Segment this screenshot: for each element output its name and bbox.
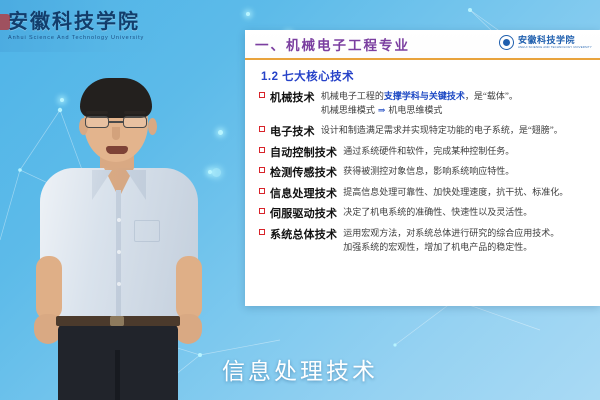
presenter-nose	[112, 127, 120, 140]
slide-title: 一、机械电子工程专业	[255, 34, 410, 54]
tech-term: 电子技术	[270, 123, 315, 139]
presenter-ear-right	[148, 118, 157, 135]
tech-term: 系统总体技术	[270, 226, 337, 242]
desc-highlight: 支撑学科与关键技术	[384, 91, 465, 101]
list-item: 电子技术 设计和制造满足需求并实现特定功能的电子系统，是“翅膀”。	[255, 123, 592, 139]
desc-post: ，是“载体”。	[465, 91, 518, 101]
list-item: 机械技术 机械电子工程的支撑学科与关键技术，是“载体”。 机械思维模式⇒机电思维…	[255, 89, 592, 117]
presenter-eyebrow-right	[124, 111, 146, 114]
presenter-mouth	[106, 146, 128, 154]
list-item: 伺服驱动技术 决定了机电系统的准确性、快速性以及灵活性。	[255, 205, 592, 221]
list-item: 系统总体技术 运用宏观方法，对系统总体进行研究的综合应用技术。 加强系统的宏观性…	[255, 226, 592, 254]
presenter-belt-buckle	[110, 316, 124, 326]
seal-mark	[0, 14, 10, 30]
tech-description: 运用宏观方法，对系统总体进行研究的综合应用技术。 加强系统的宏观性，增加了机电产…	[343, 226, 559, 254]
university-name-en: Anhui Science And Technology University	[8, 35, 154, 41]
presenter-shirt-shading	[40, 168, 198, 320]
square-bullet-icon	[259, 208, 265, 214]
slide-body: 1.2 七大核心技术 机械技术 机械电子工程的支撑学科与关键技术，是“载体”。 …	[245, 60, 600, 264]
university-logo: 安徽科技学院 Anhui Science And Technology Univ…	[0, 0, 160, 52]
presenter-glasses-bridge	[109, 121, 123, 123]
presenter-arm-right	[176, 256, 202, 320]
line2-pre: 机械思维模式	[321, 105, 375, 115]
tech-description: 机械电子工程的支撑学科与关键技术，是“载体”。 机械思维模式⇒机电思维模式	[321, 89, 518, 117]
header-logo-name-en: ANHUI SCIENCE AND TECHNOLOGY UNIVERSITY	[518, 46, 592, 49]
list-item: 信息处理技术 提高信息处理可靠性、加快处理速度，抗干扰、标准化。	[255, 185, 592, 201]
video-caption: 信息处理技术	[0, 352, 600, 386]
presenter-glasses-right	[123, 116, 147, 128]
right-arrow-icon: ⇒	[375, 105, 389, 115]
square-bullet-icon	[259, 167, 265, 173]
tech-term: 检测传感技术	[270, 164, 337, 180]
university-emblem-icon	[499, 35, 514, 50]
desc-line2: 加强系统的宏观性，增加了机电产品的稳定性。	[343, 241, 559, 254]
desc-pre: 机械电子工程的	[321, 91, 384, 101]
tech-description: 设计和制造满足需求并实现特定功能的电子系统，是“翅膀”。	[321, 123, 563, 137]
tech-term: 信息处理技术	[270, 185, 337, 201]
tech-term: 自动控制技术	[270, 144, 337, 160]
tech-description: 提高信息处理可靠性、加快处理速度，抗干扰、标准化。	[343, 185, 568, 199]
slide-header-university-logo: 安徽科技学院 ANHUI SCIENCE AND TECHNOLOGY UNIV…	[499, 35, 592, 50]
tech-description: 通过系统硬件和软件，完成某种控制任务。	[343, 144, 514, 158]
list-item: 自动控制技术 通过系统硬件和软件，完成某种控制任务。	[255, 144, 592, 160]
tech-description-line2: 机械思维模式⇒机电思维模式	[321, 104, 518, 117]
square-bullet-icon	[259, 188, 265, 194]
tech-term: 机械技术	[270, 89, 315, 105]
square-bullet-icon	[259, 126, 265, 132]
section-heading: 1.2 七大核心技术	[261, 68, 592, 84]
university-name-cn: 安徽科技学院	[8, 12, 154, 33]
square-bullet-icon	[259, 147, 265, 153]
video-frame: 安徽科技学院 Anhui Science And Technology Univ…	[0, 0, 600, 400]
square-bullet-icon	[259, 92, 265, 98]
presenter-arm-left	[36, 256, 62, 320]
square-bullet-icon	[259, 229, 265, 235]
tech-description: 决定了机电系统的准确性、快速性以及灵活性。	[343, 205, 532, 219]
desc-line1: 运用宏观方法，对系统总体进行研究的综合应用技术。	[343, 228, 559, 238]
line2-post: 机电思维模式	[388, 105, 442, 115]
header-logo-name-cn: 安徽科技学院	[518, 36, 592, 45]
presenter-glasses-left	[85, 116, 109, 128]
tech-term: 伺服驱动技术	[270, 205, 337, 221]
tech-description: 获得被测控对象信息，影响系统响应特性。	[343, 164, 514, 178]
list-item: 检测传感技术 获得被测控对象信息，影响系统响应特性。	[255, 164, 592, 180]
presentation-slide: 一、机械电子工程专业 安徽科技学院 ANHUI SCIENCE AND TECH…	[245, 30, 600, 306]
slide-header: 一、机械电子工程专业 安徽科技学院 ANHUI SCIENCE AND TECH…	[245, 30, 600, 60]
presenter-eyebrow-left	[86, 111, 108, 114]
